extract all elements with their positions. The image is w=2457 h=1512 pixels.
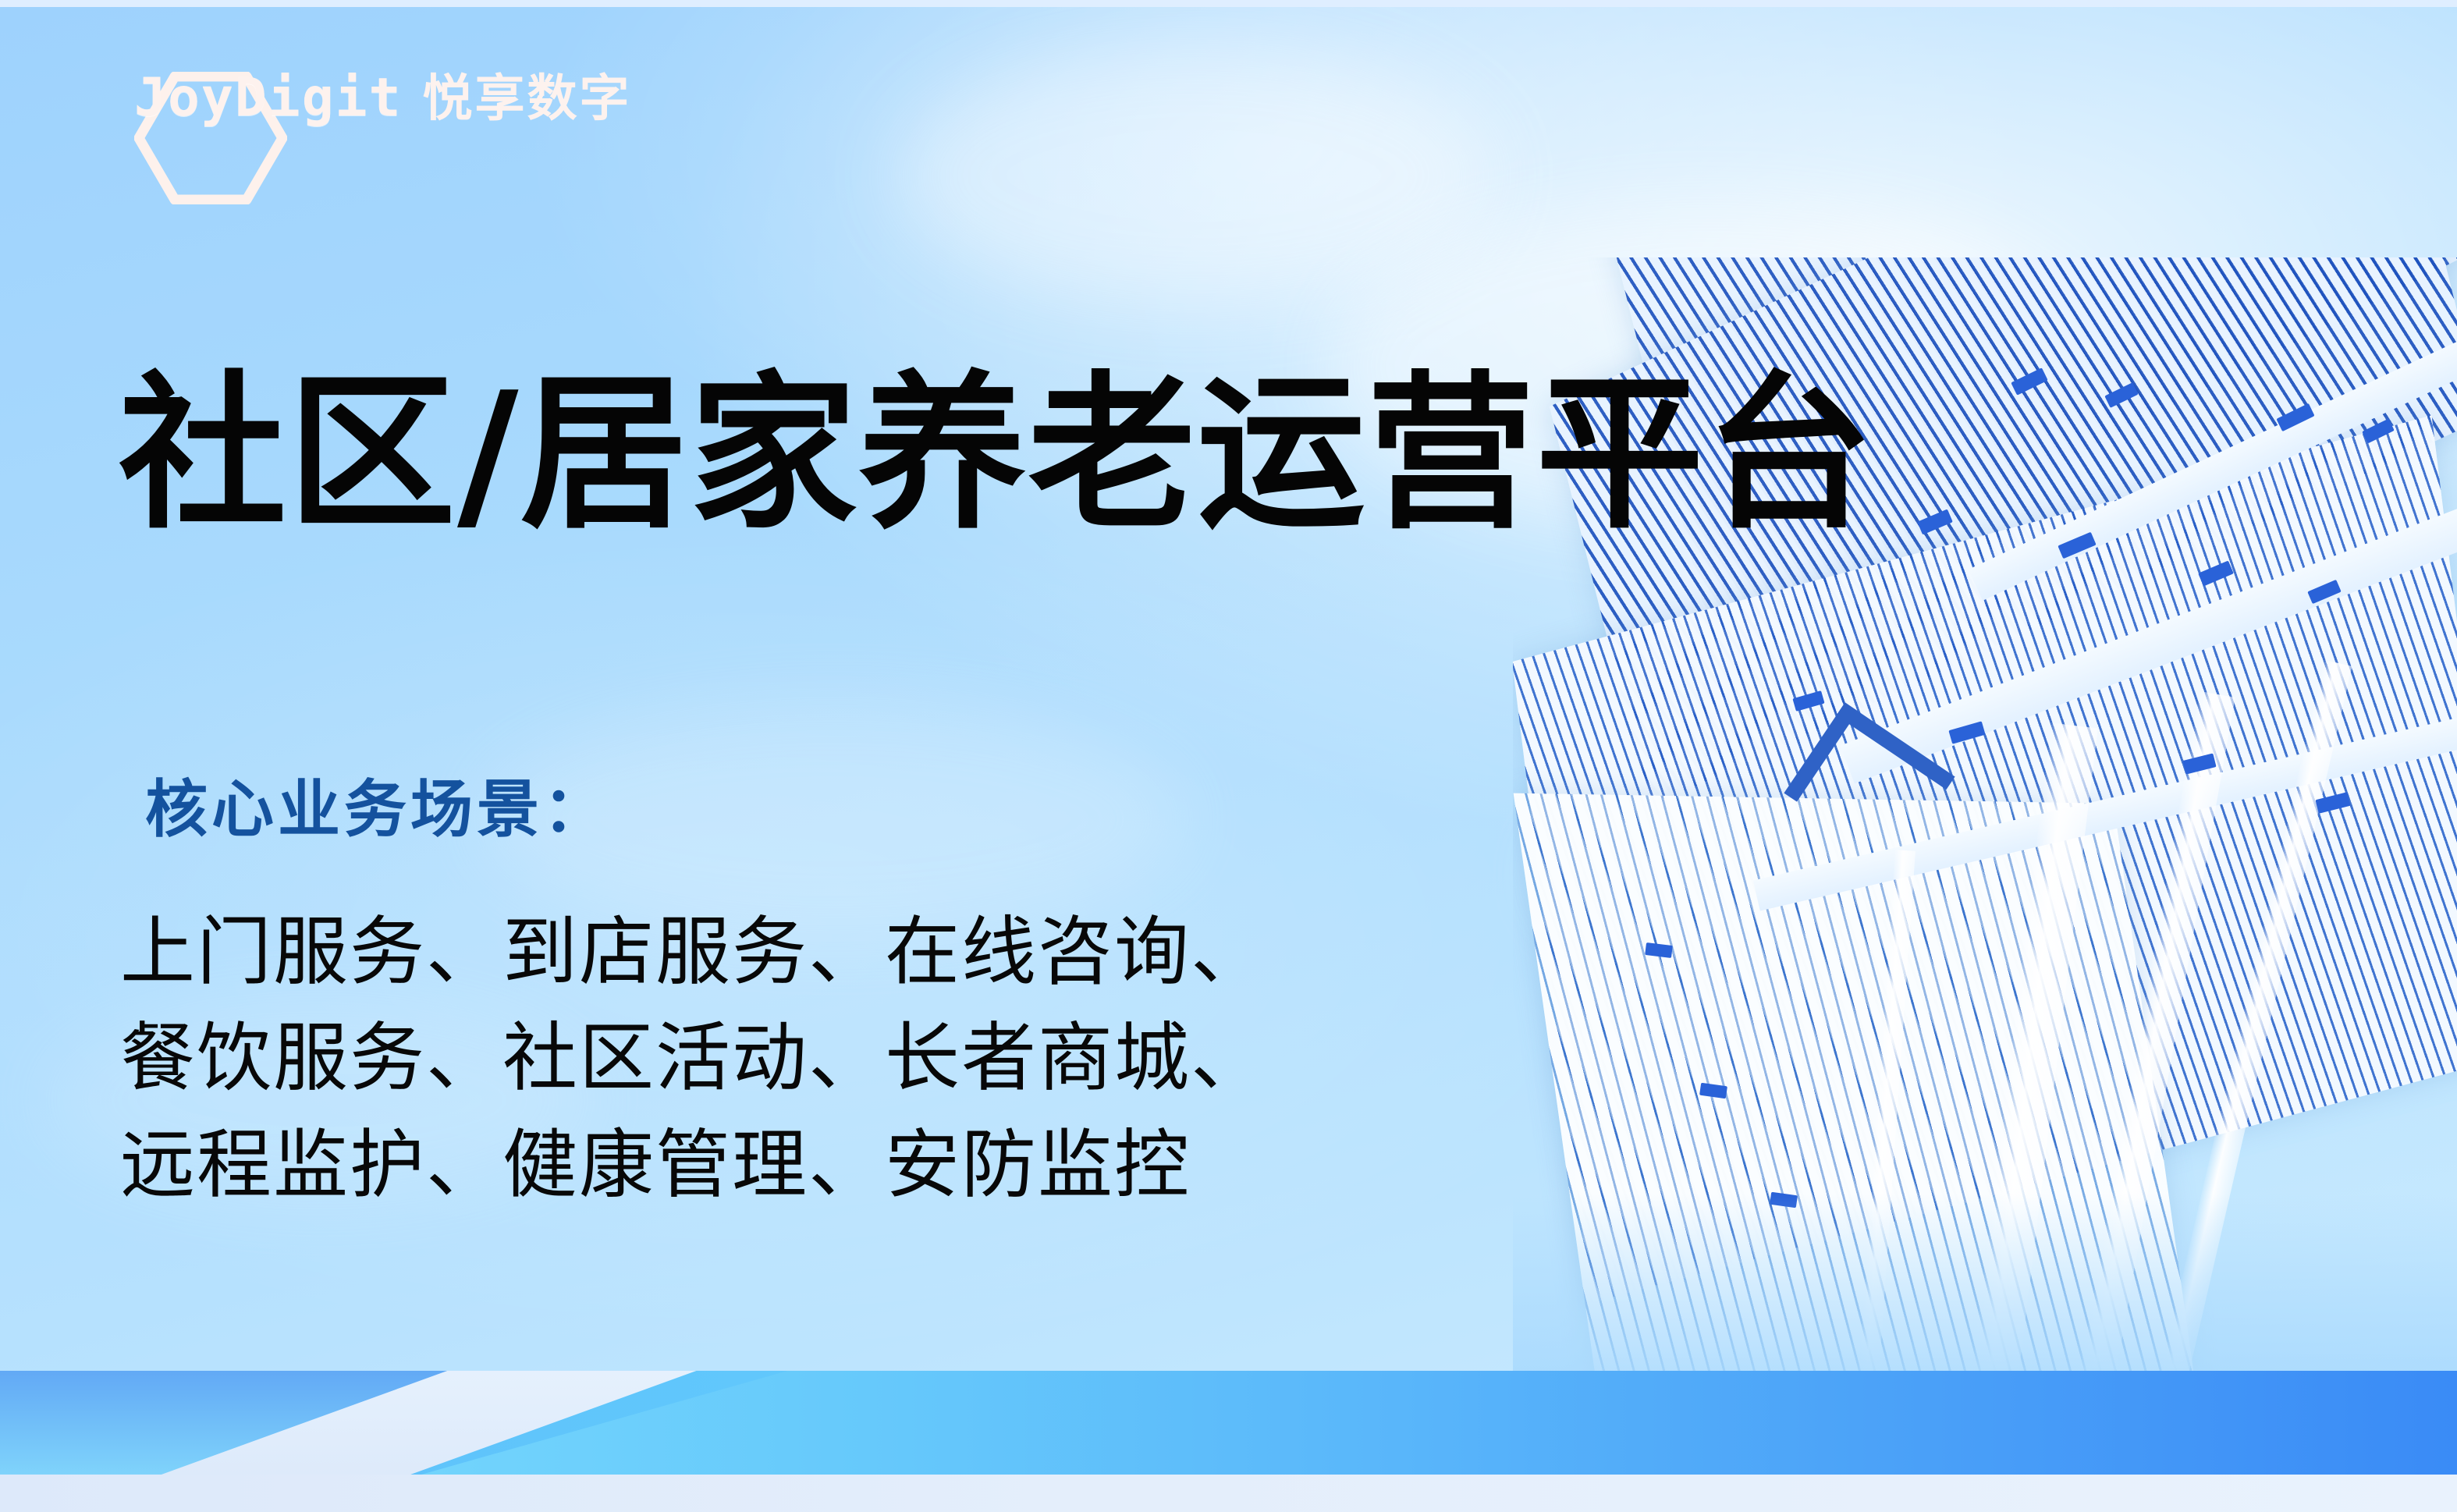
slide-root: JoyDigit 悦享数字 社区/居家养老运营平台 核心业务场景： 上门服务、到…	[0, 0, 2457, 1512]
list-item: 餐饮服务、社区活动、长者商城、	[120, 1005, 1267, 1111]
brand-logo-chinese: 悦享数字	[423, 74, 632, 124]
brand-logo-wordmark: JoyDigit 悦享数字	[134, 72, 632, 125]
cloud-wisp	[897, 47, 1490, 304]
list-item: 上门服务、到店服务、在线咨询、	[120, 899, 1267, 1005]
brand-logo[interactable]: JoyDigit 悦享数字	[134, 72, 287, 204]
section-subheading: 核心业务场景：	[145, 772, 1267, 847]
business-scene-list: 上门服务、到店服务、在线咨询、 餐饮服务、社区活动、长者商城、 远程监护、健康管…	[145, 899, 1267, 1218]
content-block: 核心业务场景： 上门服务、到店服务、在线咨询、 餐饮服务、社区活动、长者商城、 …	[145, 772, 1267, 1218]
page-title: 社区/居家养老运营平台	[119, 360, 1875, 548]
top-edge-strip	[0, 0, 2457, 7]
bottom-banner	[0, 1371, 2457, 1475]
banner-right-shape	[421, 1371, 2457, 1475]
bottom-edge-strip	[0, 1475, 2457, 1512]
list-item: 远程监护、健康管理、安防监控	[120, 1112, 1267, 1218]
building-fade-overlay	[1513, 1194, 2457, 1373]
brand-logo-latin: JoyDigit	[134, 72, 403, 125]
